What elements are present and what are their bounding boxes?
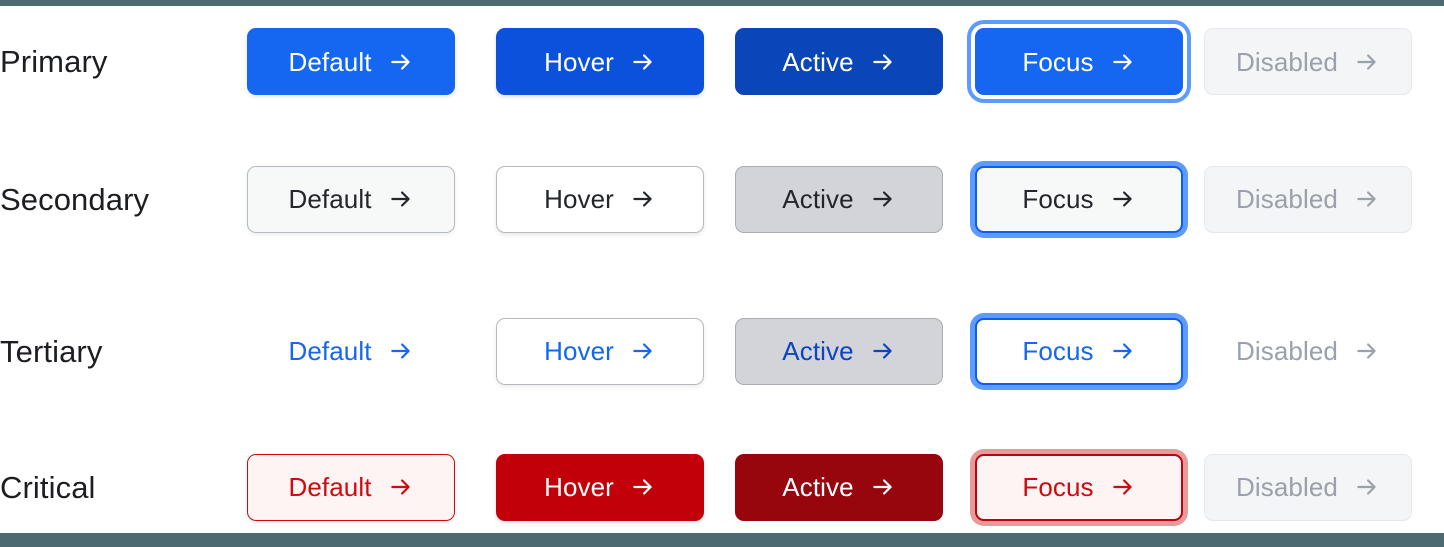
cell-critical-default: Default <box>247 454 496 521</box>
arrow-right-icon <box>388 474 414 500</box>
button-primary-focus[interactable]: Focus <box>975 28 1183 95</box>
cell-primary-hover: Hover <box>496 28 735 95</box>
button-critical-default[interactable]: Default <box>247 454 455 521</box>
row-label-tertiary: Tertiary <box>0 336 247 367</box>
arrow-right-icon <box>870 49 896 75</box>
button-primary-hover[interactable]: Hover <box>496 28 704 95</box>
cell-primary-disabled: Disabled <box>1204 28 1444 95</box>
button-label: Default <box>288 338 371 364</box>
arrow-right-icon <box>1110 49 1136 75</box>
button-label: Focus <box>1022 186 1093 212</box>
cell-primary-focus: Focus <box>975 28 1204 95</box>
arrow-right-icon <box>870 338 896 364</box>
button-tertiary-disabled: Disabled <box>1204 318 1412 385</box>
cell-tertiary-active: Active <box>735 318 975 385</box>
arrow-right-icon <box>1354 338 1380 364</box>
button-tertiary-focus[interactable]: Focus <box>975 318 1183 385</box>
button-label: Default <box>288 49 371 75</box>
arrow-right-icon <box>870 474 896 500</box>
button-label: Active <box>782 338 853 364</box>
cell-secondary-disabled: Disabled <box>1204 166 1444 233</box>
cell-secondary-focus: Focus <box>975 166 1204 233</box>
cell-critical-hover: Hover <box>496 454 735 521</box>
button-critical-active[interactable]: Active <box>735 454 943 521</box>
button-primary-disabled: Disabled <box>1204 28 1412 95</box>
button-tertiary-default[interactable]: Default <box>247 318 455 385</box>
button-label: Hover <box>544 338 614 364</box>
button-secondary-default[interactable]: Default <box>247 166 455 233</box>
row-label-critical: Critical <box>0 472 247 503</box>
button-secondary-focus[interactable]: Focus <box>975 166 1183 233</box>
button-label: Default <box>288 186 371 212</box>
arrow-right-icon <box>1354 186 1380 212</box>
button-label: Active <box>782 186 853 212</box>
button-secondary-disabled: Disabled <box>1204 166 1412 233</box>
button-secondary-hover[interactable]: Hover <box>496 166 704 233</box>
cell-tertiary-disabled: Disabled <box>1204 318 1444 385</box>
cell-secondary-hover: Hover <box>496 166 735 233</box>
arrow-right-icon <box>1354 49 1380 75</box>
cell-critical-active: Active <box>735 454 975 521</box>
button-label: Focus <box>1022 474 1093 500</box>
arrow-right-icon <box>630 49 656 75</box>
arrow-right-icon <box>388 186 414 212</box>
arrow-right-icon <box>1110 186 1136 212</box>
cell-critical-focus: Focus <box>975 454 1204 521</box>
top-chrome-bar <box>0 0 1444 6</box>
cell-secondary-active: Active <box>735 166 975 233</box>
arrow-right-icon <box>870 186 896 212</box>
bottom-chrome-bar <box>0 533 1444 547</box>
button-label: Focus <box>1022 49 1093 75</box>
button-label: Active <box>782 474 853 500</box>
button-label: Disabled <box>1236 186 1338 212</box>
button-label: Focus <box>1022 338 1093 364</box>
arrow-right-icon <box>388 49 414 75</box>
button-label: Disabled <box>1236 338 1338 364</box>
cell-tertiary-focus: Focus <box>975 318 1204 385</box>
button-label: Disabled <box>1236 49 1338 75</box>
button-critical-disabled: Disabled <box>1204 454 1412 521</box>
button-label: Disabled <box>1236 474 1338 500</box>
button-label: Hover <box>544 49 614 75</box>
button-label: Hover <box>544 186 614 212</box>
cell-tertiary-default: Default <box>247 318 496 385</box>
arrow-right-icon <box>1354 474 1380 500</box>
cell-tertiary-hover: Hover <box>496 318 735 385</box>
arrow-right-icon <box>630 338 656 364</box>
button-primary-default[interactable]: Default <box>247 28 455 95</box>
cell-primary-default: Default <box>247 28 496 95</box>
button-label: Hover <box>544 474 614 500</box>
row-label-primary: Primary <box>0 46 247 77</box>
button-state-matrix: Primary Default Hover Active Focus Disab… <box>0 0 1444 547</box>
button-tertiary-active[interactable]: Active <box>735 318 943 385</box>
cell-secondary-default: Default <box>247 166 496 233</box>
cell-critical-disabled: Disabled <box>1204 454 1444 521</box>
cell-primary-active: Active <box>735 28 975 95</box>
button-critical-hover[interactable]: Hover <box>496 454 704 521</box>
button-tertiary-hover[interactable]: Hover <box>496 318 704 385</box>
arrow-right-icon <box>1110 338 1136 364</box>
row-label-secondary: Secondary <box>0 184 247 215</box>
arrow-right-icon <box>1110 474 1136 500</box>
arrow-right-icon <box>630 474 656 500</box>
button-secondary-active[interactable]: Active <box>735 166 943 233</box>
button-label: Default <box>288 474 371 500</box>
button-critical-focus[interactable]: Focus <box>975 454 1183 521</box>
arrow-right-icon <box>388 338 414 364</box>
button-primary-active[interactable]: Active <box>735 28 943 95</box>
button-label: Active <box>782 49 853 75</box>
arrow-right-icon <box>630 186 656 212</box>
